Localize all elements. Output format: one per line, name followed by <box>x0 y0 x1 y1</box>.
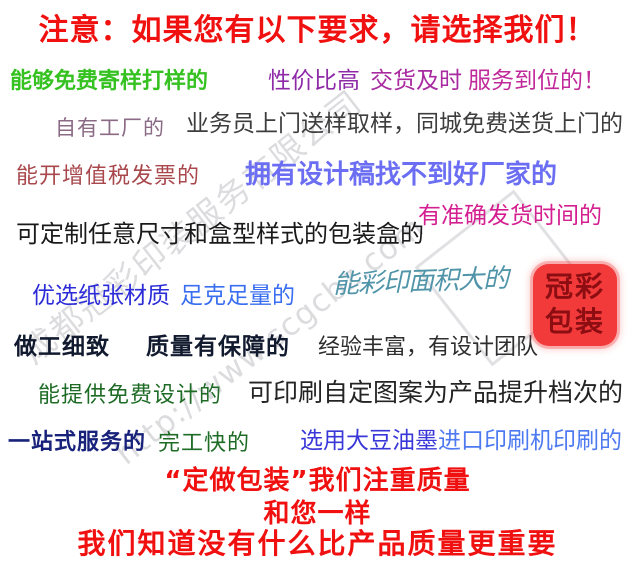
promo-poster: 成都冠彩印装服务有限公司 http://www.scgcbz.com 注意：如果… <box>0 0 635 565</box>
claim-custom-size-box: 可定制任意尺寸和盒型样式的包装盒的 <box>16 222 424 246</box>
claim-own-factory: 自有工厂的 <box>55 118 165 139</box>
claim-vat-invoice: 能开增值税发票的 <box>16 166 200 188</box>
claim-on-time-delivery: 交货及时 <box>370 70 462 93</box>
claim-imported-press: 进口印刷机印刷的 <box>438 430 622 453</box>
claim-experienced-team: 经验丰富，有设计团队 <box>318 337 538 359</box>
claim-soy-ink: 选用大豆油墨 <box>300 430 438 453</box>
claim-fast-completion: 完工快的 <box>158 433 250 455</box>
company-stamp-line2: 包装 <box>533 304 617 339</box>
claim-free-sample: 能够免费寄样打样的 <box>10 71 208 93</box>
claim-fine-workmanship: 做工细致 质量有保障的 <box>14 336 290 359</box>
company-stamp-line1: 冠彩 <box>533 269 617 304</box>
claim-door-to-door: 业务员上门送样取样，同城免费送货上门的 <box>186 113 623 136</box>
claim-accurate-ship-time: 有准确发货时间的 <box>418 205 602 228</box>
claim-has-design-draft: 拥有设计稿找不到好厂家的 <box>245 162 557 188</box>
claim-full-weight: 足克足量的 <box>180 285 295 308</box>
claim-service-in-place: 服务到位的！ <box>468 70 606 93</box>
claim-custom-pattern: 可印刷自定图案为产品提升档次的 <box>248 380 623 405</box>
claim-one-stop-service: 一站式服务的 <box>8 432 146 454</box>
calligraphy-slogan: 能彩印面积大的 <box>333 266 509 298</box>
claim-cost-performance: 性价比高 <box>268 70 360 93</box>
claim-fine-workmanship-label: 做工细致 <box>14 334 110 360</box>
company-stamp-text: 冠彩 包装 <box>533 269 617 339</box>
claim-quality-guaranteed-label: 质量有保障的 <box>146 334 290 360</box>
closing-line-2: 和您一样 <box>0 501 635 527</box>
company-stamp-logo: 冠彩 包装 <box>533 264 617 346</box>
page-title: 注意：如果您有以下要求，请选择我们！ <box>0 16 635 46</box>
closing-line-3: 我们知道没有什么比产品质量更重要 <box>0 530 635 558</box>
closing-line-1: “定做包装”我们注重质量 <box>0 468 635 494</box>
claim-premium-paper: 优选纸张材质 <box>32 285 170 308</box>
claim-free-design: 能提供免费设计的 <box>38 385 222 407</box>
